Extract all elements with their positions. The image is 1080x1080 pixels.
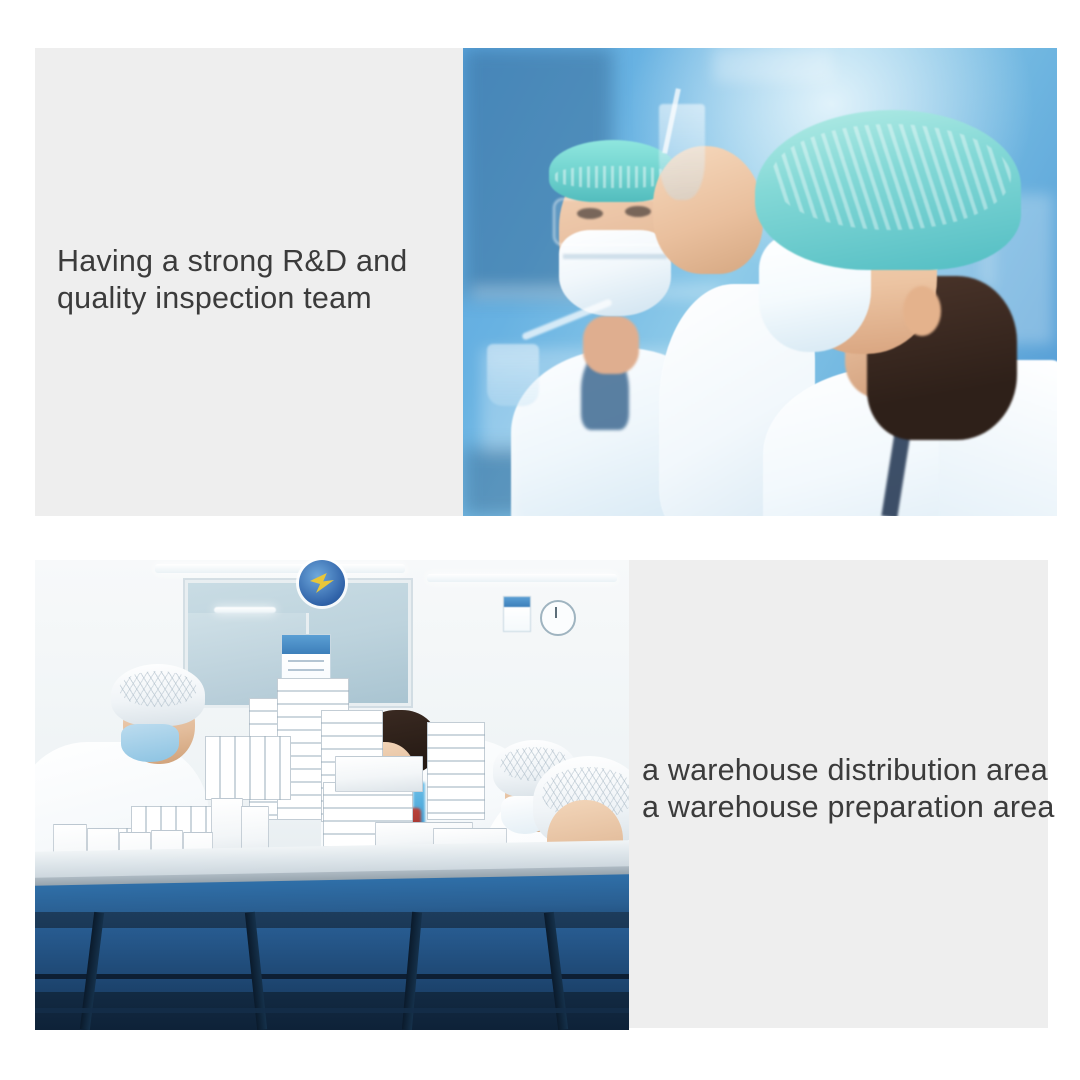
under-rail-2 — [35, 1008, 629, 1013]
lab-worker-a-neck — [583, 316, 639, 374]
top-caption: Having a strong R&D and quality inspecti… — [57, 243, 407, 317]
table-under-shadow — [35, 912, 629, 1030]
ceiling-light-1 — [155, 564, 405, 573]
lab-worker-a-mask-fold — [563, 254, 667, 259]
box-center-top — [335, 756, 423, 792]
warehouse-packing-photo — [35, 560, 629, 1030]
window-room-light — [214, 607, 276, 613]
wall-clock-icon — [540, 600, 576, 636]
under-rail-1 — [35, 974, 629, 979]
lab-ceiling-light — [713, 48, 833, 82]
under-blue-panel — [35, 928, 629, 992]
warehouse-worker-1-face-mask — [121, 724, 179, 762]
lab-worker-b-hair-net — [755, 110, 1021, 270]
wall-small-sign — [503, 596, 531, 632]
bottom-caption-line-2: a warehouse preparation area — [642, 789, 1055, 826]
bottom-caption: a warehouse distribution area a warehous… — [642, 752, 1055, 826]
top-caption-line-2: quality inspection team — [57, 280, 407, 317]
box-row-back-left — [205, 736, 291, 800]
bottom-caption-line-1: a warehouse distribution area — [642, 752, 1055, 789]
notice-sign-header — [282, 635, 330, 654]
lab-beaker — [487, 344, 539, 406]
lab-worker-b-ear — [903, 286, 941, 336]
top-caption-line-1: Having a strong R&D and — [57, 243, 407, 280]
warehouse-worker-1-hair-net — [111, 664, 205, 726]
ceiling-light-2 — [427, 574, 617, 582]
small-sign-header — [504, 597, 530, 607]
lab-quality-inspection-photo — [463, 48, 1057, 516]
company-logo-icon — [299, 560, 345, 606]
box-stack-back-4 — [427, 722, 485, 820]
